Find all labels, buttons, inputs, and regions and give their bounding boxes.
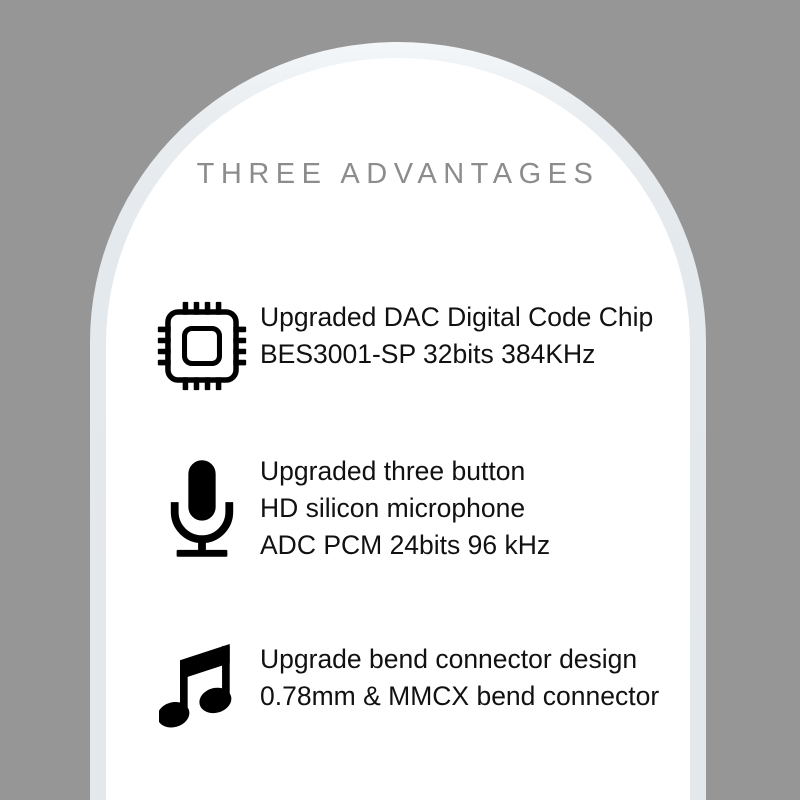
feature-line: Upgrade bend connector design: [260, 641, 659, 678]
feature-row-microphone: Upgraded three button HD silicon microph…: [152, 452, 550, 564]
feature-line: Upgraded three button: [260, 453, 550, 490]
feature-text-connector: Upgrade bend connector design 0.78mm & M…: [260, 640, 659, 715]
microphone-icon: [152, 452, 252, 564]
feature-line: HD silicon microphone: [260, 490, 550, 527]
music-note-icon: [152, 640, 252, 736]
feature-text-dac-chip: Upgraded DAC Digital Code Chip BES3001-S…: [260, 298, 653, 373]
feature-line: BES3001-SP 32bits 384KHz: [260, 336, 653, 373]
feature-line: 0.78mm & MMCX bend connector: [260, 678, 659, 715]
feature-row-dac-chip: Upgraded DAC Digital Code Chip BES3001-S…: [152, 298, 653, 394]
feature-line: ADC PCM 24bits 96 kHz: [260, 527, 550, 564]
product-feature-card: THREE ADVANTAGES: [0, 0, 800, 800]
feature-line: Upgraded DAC Digital Code Chip: [260, 299, 653, 336]
feature-text-microphone: Upgraded three button HD silicon microph…: [260, 452, 550, 564]
chip-icon: [152, 298, 252, 394]
feature-row-connector: Upgrade bend connector design 0.78mm & M…: [152, 640, 659, 736]
page-title: THREE ADVANTAGES: [106, 158, 690, 191]
